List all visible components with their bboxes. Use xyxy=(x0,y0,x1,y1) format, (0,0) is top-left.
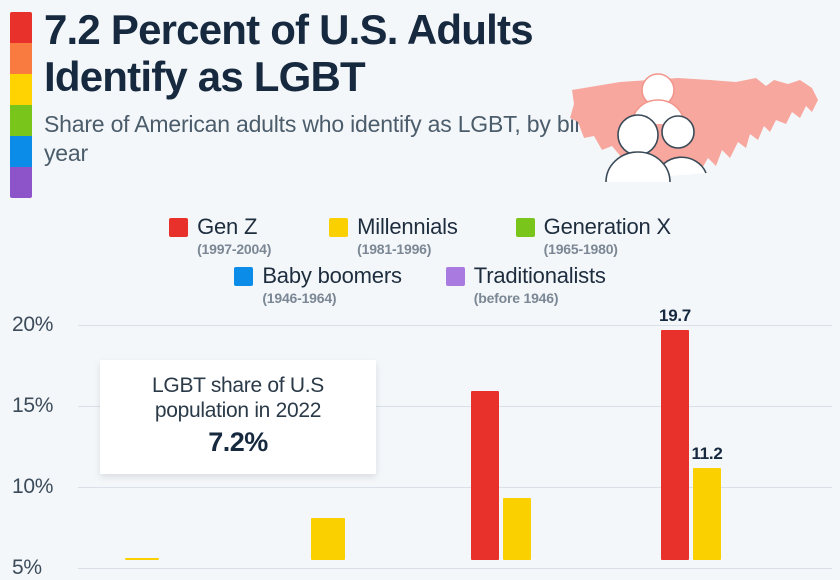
us-map-icon xyxy=(560,62,830,202)
legend-item-generation-x[interactable]: Generation X(1965-1980) xyxy=(516,214,671,257)
legend-item-header: Generation X xyxy=(516,214,671,240)
legend-swatch-icon xyxy=(446,267,465,286)
rainbow-segment-2 xyxy=(10,43,32,74)
callout-line-1: LGBT share of U.S xyxy=(152,374,324,397)
callout-value: 7.2% xyxy=(110,427,366,458)
legend-swatch-icon xyxy=(234,267,253,286)
legend-item-header: Millennials xyxy=(329,214,458,240)
page-title: 7.2 Percent of U.S. Adults Identify as L… xyxy=(44,6,604,100)
legend-label: Baby boomers xyxy=(262,263,401,289)
legend-label: Millennials xyxy=(357,214,458,240)
bar-gen-z[interactable] xyxy=(471,391,499,560)
page-subtitle: Share of American adults who identify as… xyxy=(44,110,604,167)
rainbow-segment-4 xyxy=(10,105,32,136)
rainbow-accent-bar xyxy=(10,12,32,198)
bar-millennials[interactable] xyxy=(693,468,721,560)
bar-gen-z[interactable] xyxy=(661,330,689,560)
bar-millennials[interactable] xyxy=(311,518,345,560)
legend-item-millennials[interactable]: Millennials(1981-1996) xyxy=(329,214,458,257)
legend-row-1: Gen Z(1997-2004)Millennials(1981-1996)Ge… xyxy=(0,214,840,257)
legend-label: Traditionalists xyxy=(474,263,606,289)
gridline-5% xyxy=(78,568,832,569)
callout-text: LGBT share of U.S population in 2022 xyxy=(110,374,366,423)
legend-years: (1981-1996) xyxy=(357,241,431,257)
legend-years: (1965-1980) xyxy=(544,241,618,257)
legend-item-gen-z[interactable]: Gen Z(1997-2004) xyxy=(169,214,271,257)
rainbow-segment-5 xyxy=(10,136,32,167)
rainbow-segment-1 xyxy=(10,12,32,43)
y-axis-tick-label: 20% xyxy=(12,313,72,337)
gridline-20% xyxy=(78,325,832,326)
legend-label: Gen Z xyxy=(197,214,257,240)
legend-item-header: Gen Z xyxy=(169,214,257,240)
bar-millennials[interactable] xyxy=(503,498,531,560)
bar-value-label: 19.7 xyxy=(659,306,691,326)
header: 7.2 Percent of U.S. Adults Identify as L… xyxy=(44,6,604,167)
callout-box: LGBT share of U.S population in 2022 7.2… xyxy=(100,360,376,474)
legend-years: (1997-2004) xyxy=(197,241,271,257)
legend-swatch-icon xyxy=(329,218,348,237)
y-axis-tick-label: 15% xyxy=(12,394,72,418)
us-map-with-people-illustration xyxy=(560,62,830,202)
chart-legend: Gen Z(1997-2004)Millennials(1981-1996)Ge… xyxy=(0,214,840,306)
y-axis-tick-label: 10% xyxy=(12,475,72,499)
legend-swatch-icon xyxy=(516,218,535,237)
bar-value-label: 11.2 xyxy=(692,444,723,464)
rainbow-segment-6 xyxy=(10,167,32,198)
legend-item-header: Baby boomers xyxy=(234,263,401,289)
legend-label: Generation X xyxy=(544,214,671,240)
rainbow-segment-3 xyxy=(10,74,32,105)
legend-swatch-icon xyxy=(169,218,188,237)
legend-item-header: Traditionalists xyxy=(446,263,606,289)
callout-line-2: population in 2022 xyxy=(155,399,321,422)
